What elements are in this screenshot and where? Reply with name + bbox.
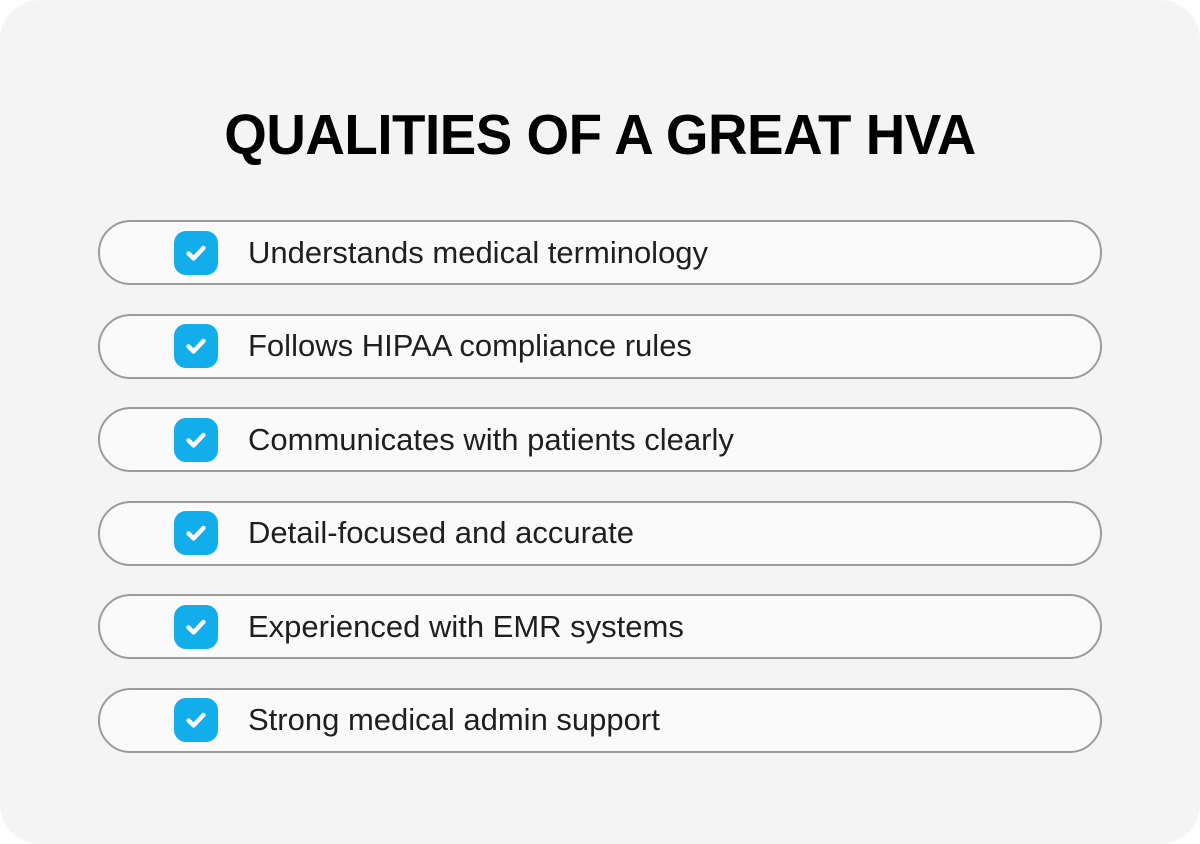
check-icon[interactable] — [174, 418, 218, 462]
check-icon[interactable] — [174, 605, 218, 649]
list-item[interactable]: Follows HIPAA compliance rules — [98, 314, 1102, 379]
list-item[interactable]: Understands medical terminology — [98, 220, 1102, 285]
check-icon[interactable] — [174, 698, 218, 742]
check-icon[interactable] — [174, 324, 218, 368]
list-item-label: Follows HIPAA compliance rules — [248, 328, 692, 364]
qualities-checklist: Understands medical terminology Follows … — [98, 220, 1102, 753]
list-item-label: Detail-focused and accurate — [248, 515, 634, 551]
list-item-label: Experienced with EMR systems — [248, 609, 684, 645]
list-item-label: Communicates with patients clearly — [248, 422, 734, 458]
page-title: QUALITIES OF A GREAT HVA — [24, 103, 1176, 167]
list-item-label: Strong medical admin support — [248, 702, 660, 738]
list-item-label: Understands medical terminology — [248, 235, 708, 271]
check-icon[interactable] — [174, 511, 218, 555]
list-item[interactable]: Experienced with EMR systems — [98, 594, 1102, 659]
list-item[interactable]: Strong medical admin support — [98, 688, 1102, 753]
qualities-card: QUALITIES OF A GREAT HVA Understands med… — [0, 0, 1200, 844]
list-item[interactable]: Detail-focused and accurate — [98, 501, 1102, 566]
check-icon[interactable] — [174, 231, 218, 275]
list-item[interactable]: Communicates with patients clearly — [98, 407, 1102, 472]
